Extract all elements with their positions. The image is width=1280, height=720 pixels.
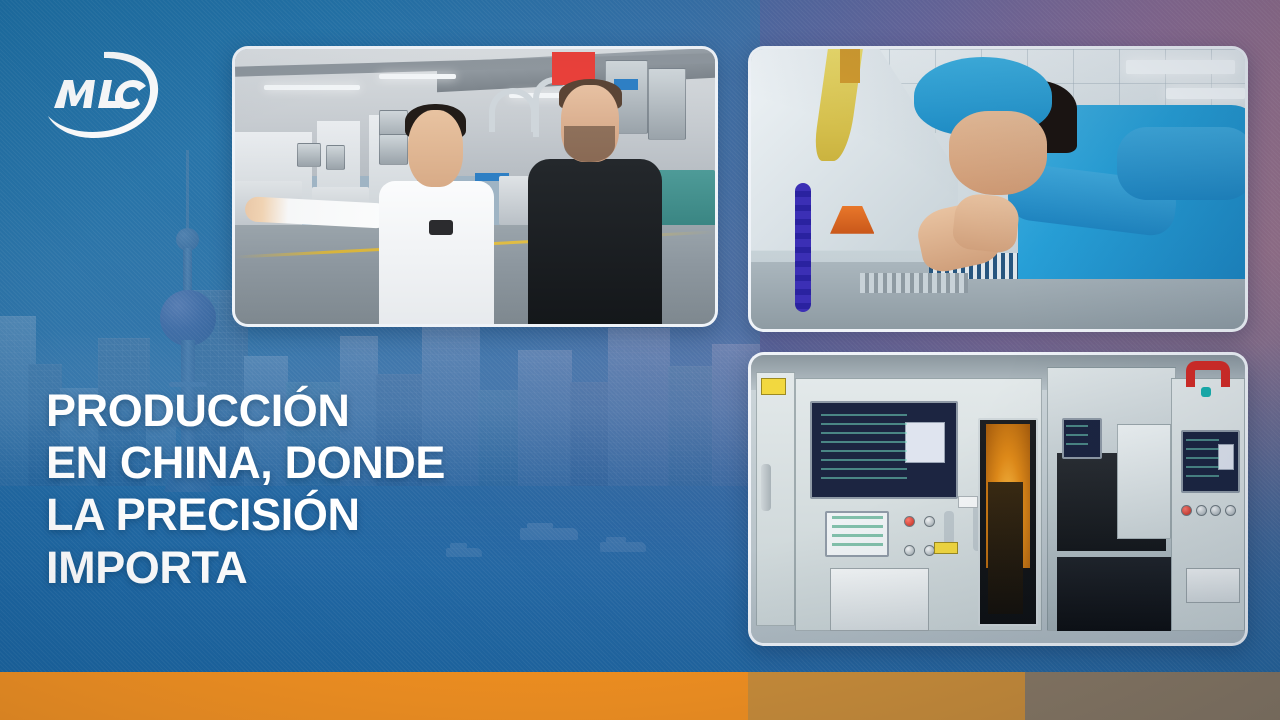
title-line-2: EN CHINA, DONDE	[46, 437, 646, 489]
photo-cnc-machine-image	[751, 355, 1245, 643]
photo-factory-tour	[232, 46, 718, 327]
machine-monitor-right	[1181, 430, 1240, 493]
photo-cleanroom-worker-image	[751, 49, 1245, 329]
photo-factory-tour-image	[235, 49, 715, 324]
photo-cnc-machine	[748, 352, 1248, 646]
bottom-accent-bar	[0, 672, 1280, 720]
person-factory-visitor	[235, 49, 715, 324]
mlc-logo[interactable]	[42, 46, 168, 144]
bottom-bar-segment-tertiary	[1025, 672, 1280, 720]
machine-teal-indicator	[1201, 387, 1211, 397]
title-line-3: LA PRECISIÓN	[46, 489, 646, 541]
title-line-4: IMPORTA	[46, 542, 646, 594]
machine-red-handle	[1186, 361, 1230, 387]
bottom-bar-segment-secondary	[748, 672, 1026, 720]
slide-canvas: PRODUCCIÓN EN CHINA, DONDE LA PRECISIÓN …	[0, 0, 1280, 720]
photo-cleanroom-worker	[748, 46, 1248, 332]
machine-hmi-panel	[825, 511, 889, 557]
title-line-1: PRODUCCIÓN	[46, 385, 646, 437]
machine-monitor-main	[810, 401, 958, 499]
machine-monitor-secondary	[1062, 418, 1102, 458]
page-title: PRODUCCIÓN EN CHINA, DONDE LA PRECISIÓN …	[46, 385, 646, 594]
bottom-bar-segment-primary	[0, 672, 748, 720]
